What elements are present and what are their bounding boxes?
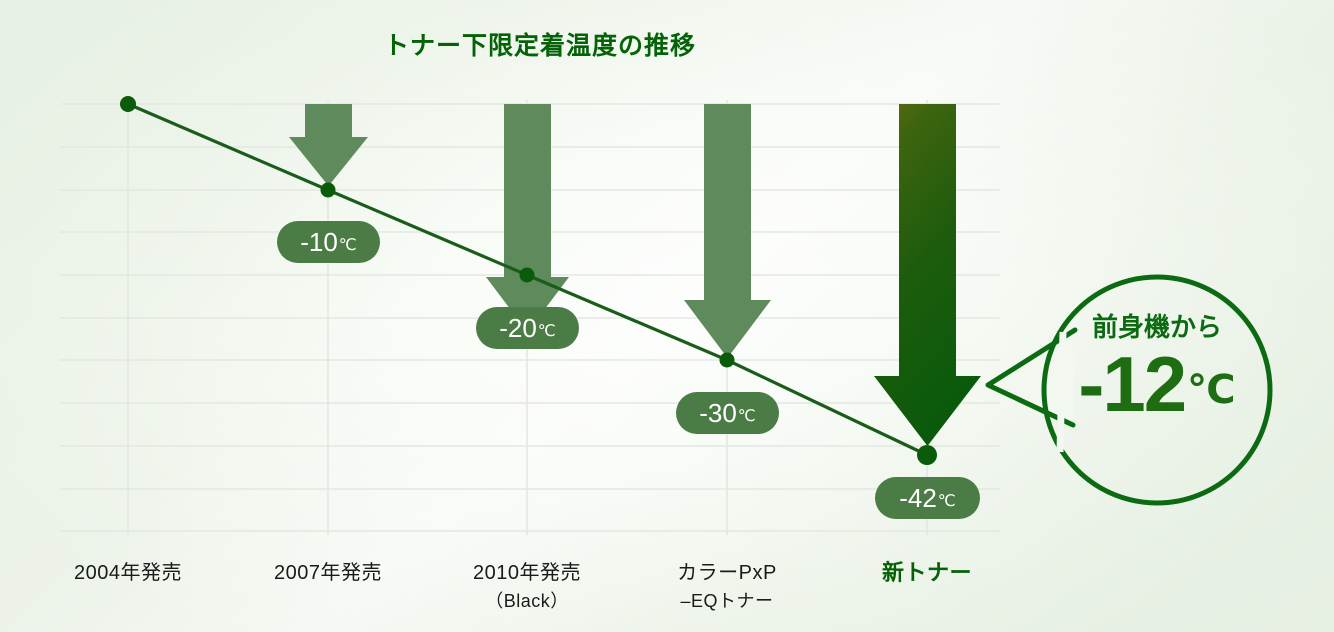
data-point (520, 268, 535, 283)
x-axis-label-2010: 2010年発売 （Black） (427, 558, 627, 615)
x-axis-label-2007: 2007年発売 (228, 558, 428, 588)
x-axis-label-line2: （Black） (427, 588, 627, 615)
x-axis-label-2004: 2004年発売 (28, 558, 228, 588)
callout-value: -12℃ (1044, 339, 1270, 430)
x-axis-label-new-toner: 新トナー (827, 556, 1027, 589)
x-axis-label-line1: カラーPxP (677, 562, 777, 584)
value-pill-number: -30 (699, 398, 737, 429)
value-pill-new-toner: -42℃ (875, 477, 980, 519)
value-pill-unit: ℃ (738, 406, 756, 426)
value-pill-number: -42 (899, 483, 937, 514)
data-point (321, 183, 336, 198)
callout-value-number: -12 (1078, 340, 1185, 428)
callout-annotation: 前身機から -12℃ (1044, 277, 1270, 503)
x-axis-label-line2: –EQトナー (627, 588, 827, 615)
value-pill-unit: ℃ (339, 235, 357, 255)
x-axis-label-line1: 新トナー (882, 560, 972, 585)
x-axis-label-line1: 2010年発売 (473, 562, 581, 584)
down-arrow-icon-2007 (289, 104, 368, 186)
data-point (120, 96, 136, 112)
down-arrow-icon-2010 (486, 104, 569, 332)
value-pill-unit: ℃ (538, 321, 556, 341)
callout-value-unit: ℃ (1187, 368, 1235, 412)
value-pill-number: -20 (499, 313, 537, 344)
data-point (917, 445, 937, 465)
value-pill-number: -10 (300, 227, 338, 258)
x-axis-label-pxp: カラーPxP –EQトナー (627, 558, 827, 615)
value-pill-2010: -20℃ (476, 307, 579, 349)
data-point (720, 353, 735, 368)
down-arrow-icon-pxp (684, 104, 771, 358)
value-pill-2007: -10℃ (277, 221, 380, 263)
x-axis-label-line1: 2007年発売 (274, 562, 382, 584)
x-axis-label-line1: 2004年発売 (74, 562, 182, 584)
chart-canvas: トナー下限定着温度の推移 (0, 0, 1334, 632)
value-pill-unit: ℃ (938, 491, 956, 511)
value-pill-pxp: -30℃ (676, 392, 779, 434)
